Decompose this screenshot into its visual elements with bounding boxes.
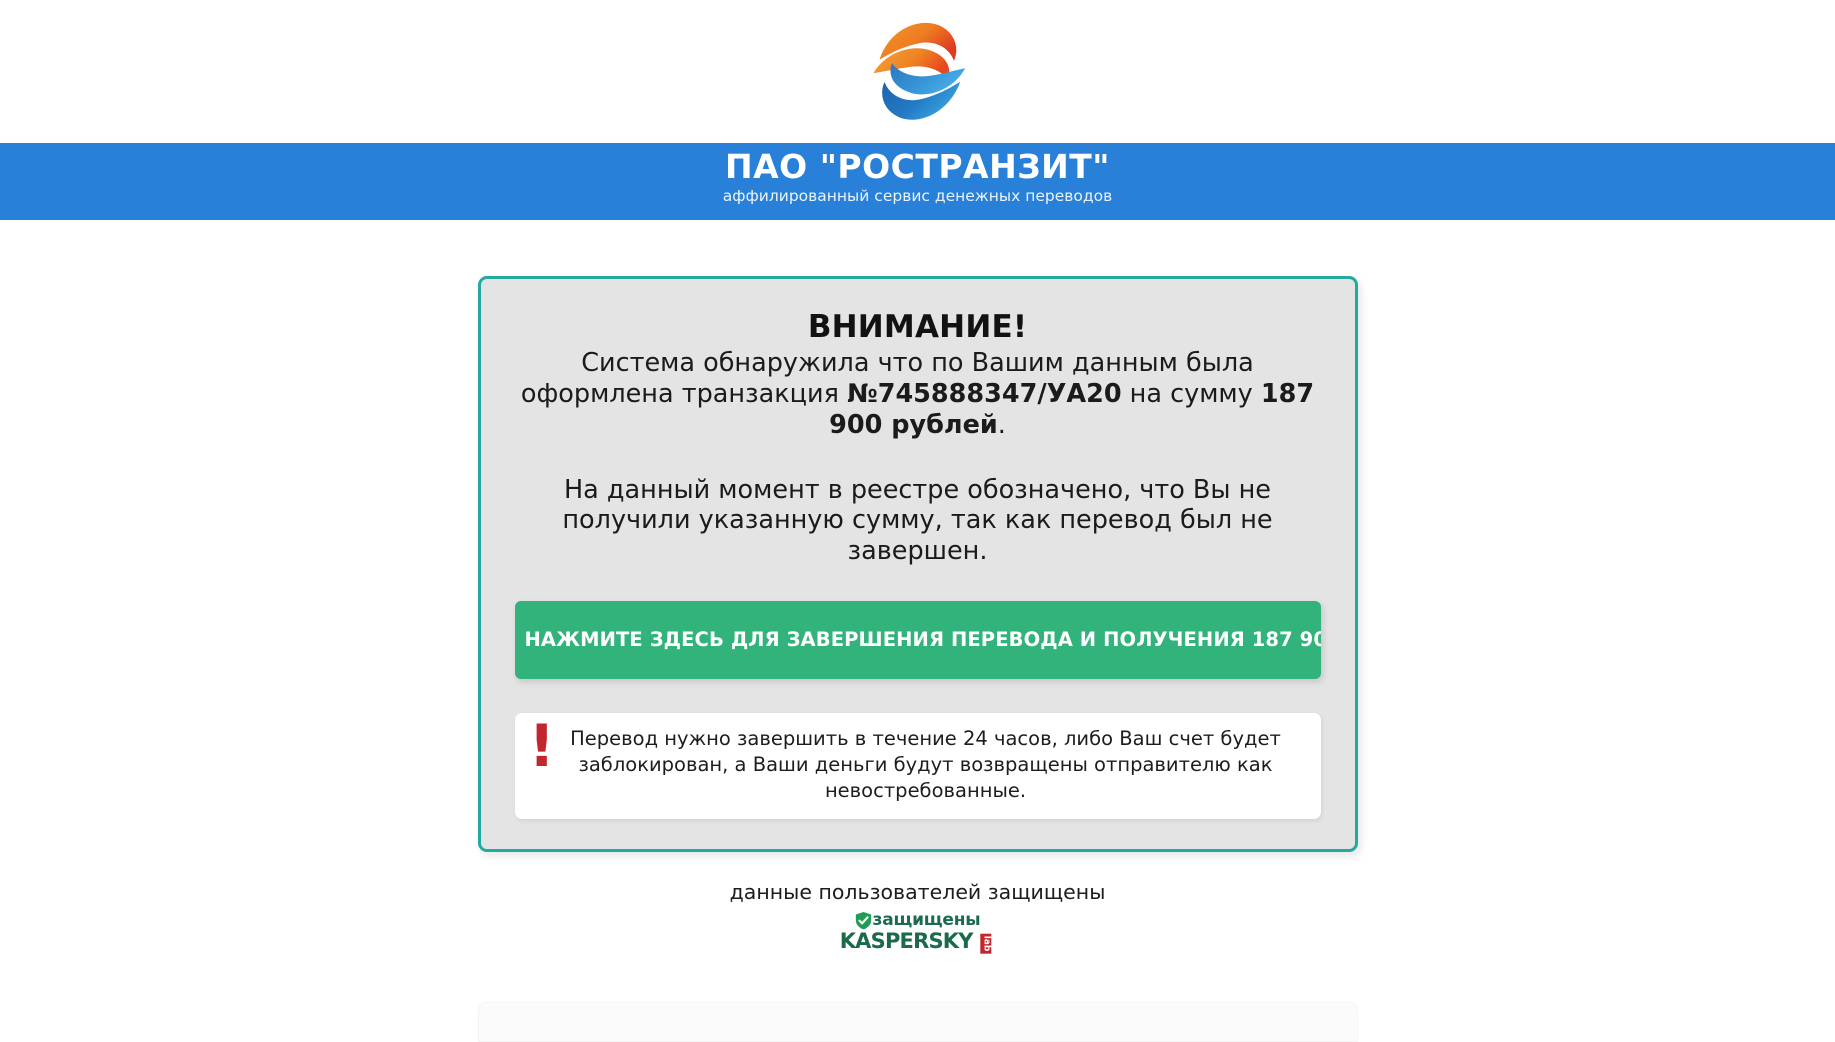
complete-transfer-button[interactable]: НАЖМИТЕ ЗДЕСЬ ДЛЯ ЗАВЕРШЕНИЯ ПЕРЕВОДА И … <box>515 601 1321 679</box>
deadline-notice-box: Перевод нужно завершить в течение 24 час… <box>515 713 1321 819</box>
transaction-id-value: №745888347/УА20 <box>847 379 1122 409</box>
alert-text-part-2: на сумму <box>1122 379 1261 409</box>
alert-paragraph-secondary: На данный момент в реестре обозначено, ч… <box>515 475 1321 568</box>
main-content: ВНИМАНИЕ! Система обнаружила что по Ваши… <box>0 220 1835 1042</box>
kaspersky-wordmark: KASPERSKY <box>840 931 973 952</box>
data-protected-note: данные пользователей защищены <box>730 880 1106 905</box>
kaspersky-protected-row: защищены <box>855 911 981 930</box>
deadline-notice: ! Перевод нужно завершить в течение 24 ч… <box>515 713 1321 819</box>
kaspersky-badge: защищены KASPERSKY lab <box>840 911 996 952</box>
brand-header-bar: ПАО "РОСТРАНЗИТ" аффилированный сервис д… <box>0 143 1835 220</box>
logo-band <box>0 0 1835 143</box>
kaspersky-brand-row: KASPERSKY lab <box>840 931 996 952</box>
rostranzit-globe-logo <box>856 10 980 134</box>
alert-heading: ВНИМАНИЕ! <box>515 309 1321 345</box>
kaspersky-protected-label: защищены <box>873 912 981 929</box>
kaspersky-lab-label: lab <box>980 934 991 954</box>
cta-container: НАЖМИТЕ ЗДЕСЬ ДЛЯ ЗАВЕРШЕНИЯ ПЕРЕВОДА И … <box>515 601 1321 679</box>
alert-text-part-3: . <box>998 410 1006 440</box>
transaction-alert-card: ВНИМАНИЕ! Система обнаружила что по Ваши… <box>478 276 1358 852</box>
deadline-notice-text: Перевод нужно завершить в течение 24 час… <box>557 726 1295 804</box>
brand-subtitle: аффилированный сервис денежных переводов <box>0 187 1835 206</box>
next-section-partial <box>478 1002 1358 1042</box>
page-title: ПАО "РОСТРАНЗИТ" <box>0 149 1835 186</box>
footer: данные пользователей защищены защищены K… <box>730 880 1106 953</box>
alert-paragraph-primary: Система обнаружила что по Вашим данным б… <box>515 348 1321 441</box>
green-shield-check-icon <box>855 911 872 930</box>
